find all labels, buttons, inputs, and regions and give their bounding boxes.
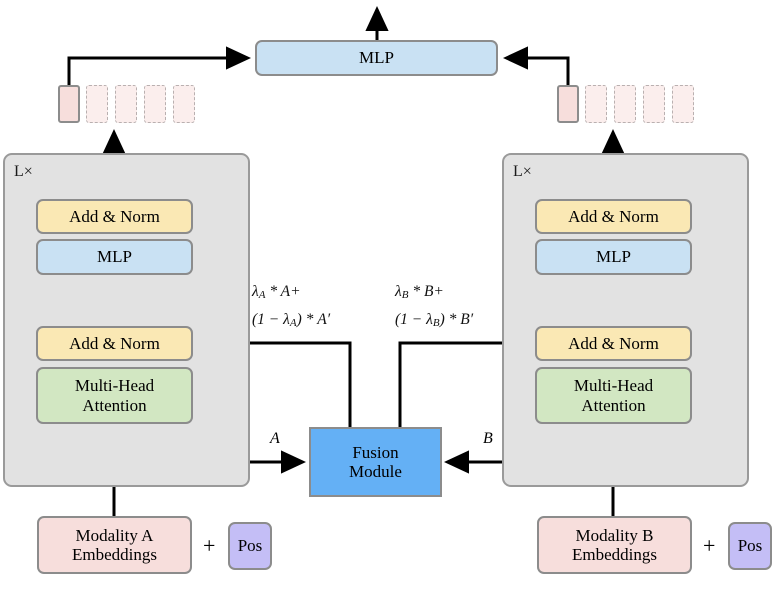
left-pos-embedding[interactable]: Pos	[228, 522, 272, 570]
left-formula-l2-post: ) * A′	[297, 311, 331, 328]
left-attention-label-line2: Attention	[82, 396, 146, 415]
right-pos-embedding[interactable]: Pos	[728, 522, 772, 570]
modality-a-embeddings[interactable]: Modality A Embeddings	[37, 516, 192, 574]
diagram-canvas: MLP L× Add & Norm MLP Add & Norm Multi-H…	[0, 0, 777, 592]
right-formula-l2-sub: B	[433, 317, 440, 329]
left-cls-token	[58, 85, 80, 123]
right-add-norm-bottom[interactable]: Add & Norm	[535, 326, 692, 361]
right-attention-label-line2: Attention	[581, 396, 645, 415]
right-cls-token	[557, 85, 579, 123]
wire-left-cls-to-mlp	[69, 58, 248, 86]
left-add-norm-top[interactable]: Add & Norm	[36, 199, 193, 234]
stream-label-a: A	[270, 430, 280, 448]
left-attention-label-line1: Multi-Head	[75, 376, 154, 395]
right-add-norm-top-label: Add & Norm	[568, 207, 659, 226]
left-mlp-label: MLP	[97, 247, 132, 266]
left-add-norm-bottom-label: Add & Norm	[69, 334, 160, 353]
left-add-norm-bottom[interactable]: Add & Norm	[36, 326, 193, 361]
right-lambda-symbol: λ	[395, 283, 402, 300]
modality-a-label-line2: Embeddings	[72, 545, 157, 564]
fusion-label-line2: Module	[349, 462, 402, 481]
head-mlp-label: MLP	[359, 48, 394, 67]
left-token-2	[115, 85, 137, 123]
left-fusion-formula-line2: (1 − λA) * A′	[252, 311, 330, 329]
left-formula-l1-rest: * A+	[265, 283, 300, 300]
left-token-3	[144, 85, 166, 123]
stream-label-b: B	[483, 430, 493, 448]
modality-b-label-line1: Modality B	[576, 526, 654, 545]
left-multi-head-attention[interactable]: Multi-Head Attention	[36, 367, 193, 424]
left-lambda-symbol: λ	[252, 283, 259, 300]
left-repeat-label: L×	[14, 163, 33, 181]
right-plus-sign: +	[703, 533, 715, 559]
right-mlp-label: MLP	[596, 247, 631, 266]
right-token-4	[672, 85, 694, 123]
left-token-1	[86, 85, 108, 123]
right-multi-head-attention[interactable]: Multi-Head Attention	[535, 367, 692, 424]
right-token-2	[614, 85, 636, 123]
right-formula-l2-pre: (1 − λ	[395, 311, 433, 328]
modality-b-label-line2: Embeddings	[572, 545, 657, 564]
left-add-norm-top-label: Add & Norm	[69, 207, 160, 226]
right-fusion-formula-line1: λB * B+	[395, 283, 444, 301]
head-mlp-box[interactable]: MLP	[255, 40, 498, 76]
right-formula-l1-rest: * B+	[408, 283, 443, 300]
right-fusion-formula-line2: (1 − λB) * B′	[395, 311, 473, 329]
left-plus-sign: +	[203, 533, 215, 559]
right-add-norm-top[interactable]: Add & Norm	[535, 199, 692, 234]
right-pos-label: Pos	[738, 536, 763, 555]
right-mlp[interactable]: MLP	[535, 239, 692, 275]
fusion-label-line1: Fusion	[352, 443, 398, 462]
left-token-4	[173, 85, 195, 123]
modality-a-label-line1: Modality A	[76, 526, 154, 545]
left-formula-l2-sub: A	[290, 317, 297, 329]
left-mlp[interactable]: MLP	[36, 239, 193, 275]
right-token-3	[643, 85, 665, 123]
left-fusion-formula-line1: λA * A+	[252, 283, 301, 301]
right-token-1	[585, 85, 607, 123]
fusion-module[interactable]: Fusion Module	[309, 427, 442, 497]
right-formula-l2-post: ) * B′	[440, 311, 474, 328]
left-formula-l2-pre: (1 − λ	[252, 311, 290, 328]
wire-right-cls-to-mlp	[506, 58, 568, 86]
modality-b-embeddings[interactable]: Modality B Embeddings	[537, 516, 692, 574]
right-add-norm-bottom-label: Add & Norm	[568, 334, 659, 353]
right-attention-label-line1: Multi-Head	[574, 376, 653, 395]
left-pos-label: Pos	[238, 536, 263, 555]
right-repeat-label: L×	[513, 163, 532, 181]
